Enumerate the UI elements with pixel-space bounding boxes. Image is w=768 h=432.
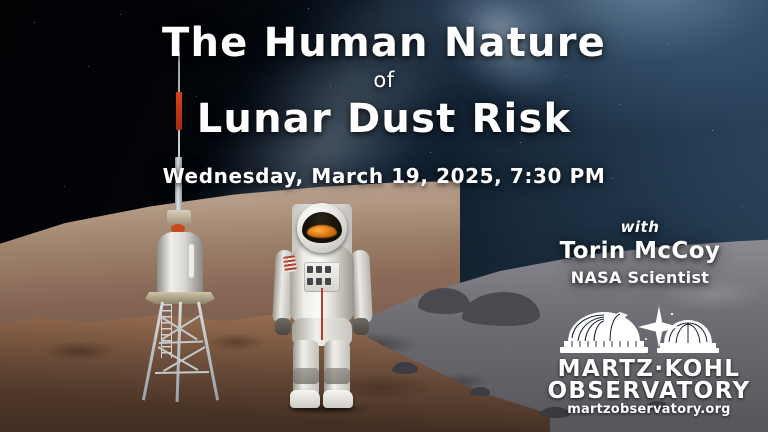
- astronaut-gold-visor-reflection: [307, 225, 337, 238]
- astronaut-panel-button: [307, 278, 313, 285]
- astronaut-suit-umbilical: [321, 288, 323, 340]
- speaker-with-label: with: [512, 218, 768, 236]
- tower-brace: [159, 340, 203, 344]
- astronaut-figure: [262, 200, 382, 412]
- tower-tank: [157, 232, 203, 294]
- speaker-role: NASA Scientist: [512, 268, 768, 287]
- lunar-rock: [392, 362, 418, 374]
- poster-title-line-2: Lunar Dust Risk: [0, 96, 768, 142]
- astronaut-left-knee: [293, 368, 319, 384]
- poster-title-connector: of: [0, 68, 768, 92]
- astronaut-right-knee: [324, 368, 350, 384]
- astronaut-left-boot: [290, 390, 320, 408]
- astronaut-panel-button: [316, 266, 322, 273]
- astronaut-left-glove: [275, 318, 291, 335]
- astronaut-right-glove: [353, 318, 369, 335]
- observatory-logo[interactable]: MARTZ·KOHL OBSERVATORY martzobservatory.…: [540, 308, 758, 418]
- logo-name-line-2: OBSERVATORY: [540, 378, 758, 404]
- logo-website-url[interactable]: martzobservatory.org: [540, 402, 758, 417]
- event-poster: The Human Nature of Lunar Dust Risk Wedn…: [0, 0, 768, 432]
- tower-tank-highlight: [189, 244, 194, 278]
- astronaut-panel-button: [307, 266, 313, 273]
- poster-title-line-1: The Human Nature: [0, 20, 768, 66]
- speaker-name: Torin McCoy: [512, 238, 768, 264]
- astronaut-shoulder-flag-patch: [283, 255, 297, 273]
- astronaut-panel-button: [325, 278, 331, 285]
- astronaut-panel-button: [316, 278, 322, 285]
- astronaut-right-boot: [323, 390, 353, 408]
- lunar-rock: [470, 387, 490, 396]
- star-burst-icon: [638, 306, 680, 348]
- astronaut-panel-button: [325, 266, 331, 273]
- event-datetime: Wednesday, March 19, 2025, 7:30 PM: [0, 164, 768, 188]
- tower-collar: [167, 210, 191, 224]
